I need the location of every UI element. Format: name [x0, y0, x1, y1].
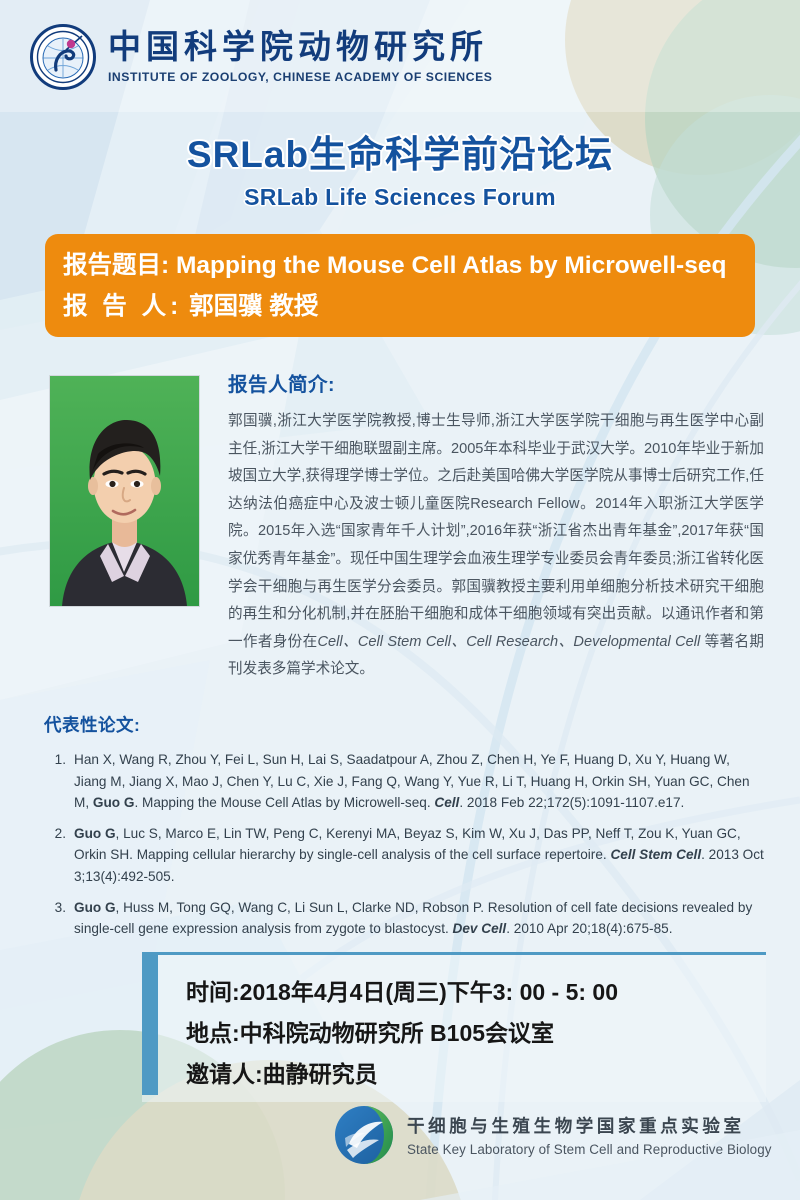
talk-speaker-line: 报 告 人: 郭国骥 教授 — [63, 286, 755, 327]
publication-item: 2. Guo G, Luc S, Marco E, Lin TW, Peng C… — [44, 823, 766, 888]
publication-title: . Mapping the Mouse Cell Atlas by Microw… — [134, 795, 434, 810]
publication-text: Han X, Wang R, Zhou Y, Fei L, Sun H, Lai… — [74, 749, 766, 814]
bio-text-part1: 郭国骥,浙江大学医学院教授,博士生导师,浙江大学医学院干细胞与再生医学中心副主任… — [228, 413, 764, 650]
talk-topic-value: Mapping the Mouse Cell Atlas by Microwel… — [176, 252, 726, 279]
talk-speaker-label: 报 告 人: — [63, 293, 182, 320]
lab-name-cn: 干细胞与生殖生物学国家重点实验室 — [407, 1113, 772, 1138]
publication-text: Guo G, Luc S, Marco E, Lin TW, Peng C, K… — [74, 823, 766, 888]
publication-journal: Cell — [434, 795, 459, 810]
publication-number: 1. — [44, 749, 74, 814]
event-divider — [142, 952, 766, 955]
publication-number: 2. — [44, 823, 74, 888]
publication-journal: Cell Stem Cell — [610, 847, 701, 862]
publication-number: 3. — [44, 897, 74, 940]
talk-speaker-value: 郭国骥 教授 — [189, 293, 318, 320]
lab-logo-icon — [333, 1104, 395, 1166]
institute-seal-icon — [30, 24, 96, 90]
bio-journal-names: Cell、Cell Stem Cell、Cell Research、Develo… — [318, 634, 701, 650]
talk-banner: 报告题目: Mapping the Mouse Cell Atlas by Mi… — [45, 234, 755, 337]
lab-footer-logo: 干细胞与生殖生物学国家重点实验室 State Key Laboratory of… — [333, 1104, 772, 1166]
publications-heading: 代表性论文: — [44, 712, 766, 737]
publication-highlighted-author: Guo G — [74, 826, 116, 841]
event-accent-bar — [142, 955, 158, 1095]
forum-title: SRLab生命科学前沿论坛 — [0, 124, 800, 178]
institute-name-cn: 中国科学院动物研究所 — [108, 28, 492, 66]
publication-highlighted-author: Guo G — [74, 900, 116, 915]
event-details: 时间:2018年4月4日(周三)下午3: 00 - 5: 00 地点:中科院动物… — [186, 972, 766, 1095]
publication-citation: . 2010 Apr 20;18(4):675-85. — [506, 921, 672, 936]
speaker-portrait — [49, 375, 200, 607]
forum-subtitle: SRLab Life Sciences Forum — [0, 184, 800, 211]
event-place: 地点:中科院动物研究所 B105会议室 — [186, 1013, 766, 1054]
event-host: 邀请人:曲静研究员 — [186, 1054, 766, 1095]
event-time: 时间:2018年4月4日(周三)下午3: 00 - 5: 00 — [186, 972, 766, 1013]
publication-highlighted-author: Guo G — [93, 795, 135, 810]
speaker-bio: 报告人简介: 郭国骥,浙江大学医学院教授,博士生导师,浙江大学医学院干细胞与再生… — [228, 368, 764, 684]
talk-topic-label: 报告题目: — [63, 252, 169, 279]
institute-header: 中国科学院动物研究所 INSTITUTE OF ZOOLOGY, CHINESE… — [0, 0, 800, 112]
publication-item: 1. Han X, Wang R, Zhou Y, Fei L, Sun H, … — [44, 749, 766, 814]
publication-text: Guo G, Huss M, Tong GQ, Wang C, Li Sun L… — [74, 897, 766, 940]
publications-section: 代表性论文: 1. Han X, Wang R, Zhou Y, Fei L, … — [44, 712, 766, 949]
bio-heading: 报告人简介: — [228, 368, 764, 397]
talk-topic-line: 报告题目: Mapping the Mouse Cell Atlas by Mi… — [63, 245, 755, 286]
lab-name-en: State Key Laboratory of Stem Cell and Re… — [407, 1142, 772, 1157]
bio-body: 郭国骥,浙江大学医学院教授,博士生导师,浙江大学医学院干细胞与再生医学中心副主任… — [228, 408, 764, 684]
publication-journal: Dev Cell — [453, 921, 507, 936]
publication-citation: . 2018 Feb 22;172(5):1091-1107.e17. — [459, 795, 684, 810]
institute-name-en: INSTITUTE OF ZOOLOGY, CHINESE ACADEMY OF… — [108, 70, 492, 84]
seminar-poster: 中国科学院动物研究所 INSTITUTE OF ZOOLOGY, CHINESE… — [0, 0, 800, 1200]
publication-item: 3. Guo G, Huss M, Tong GQ, Wang C, Li Su… — [44, 897, 766, 940]
